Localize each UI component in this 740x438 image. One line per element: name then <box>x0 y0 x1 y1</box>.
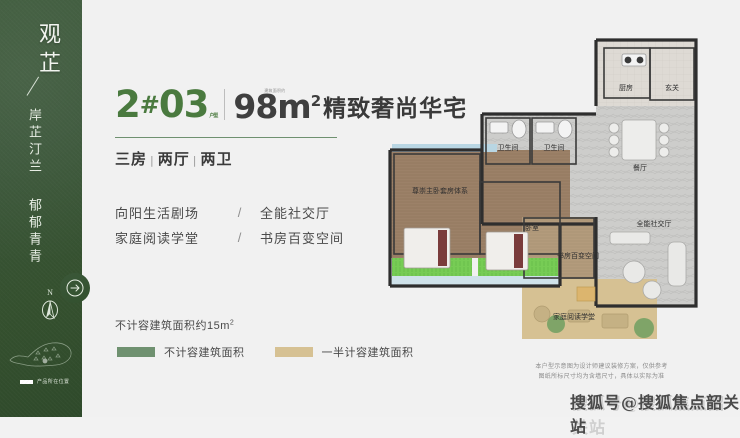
room-label-bathroom-1: 卫生间 <box>498 143 519 152</box>
feature-right: 全能社交厅 <box>260 203 330 222</box>
uncounted-area-text: 不计容建筑面积约15m <box>115 320 230 332</box>
compass-needle-icon <box>40 297 60 321</box>
compass-icon: N <box>36 288 64 324</box>
room-label-reading-hall: 家庭阅读学堂 <box>553 312 595 321</box>
title-underline <box>115 137 337 138</box>
uncounted-area-sup: 2 <box>230 319 234 326</box>
feature-list: 向阳生活剧场 / 全能社交厅 家庭阅读学堂 / 书房百变空间 <box>115 200 344 250</box>
legend-item-uncounted: 不计容建筑面积 <box>117 344 245 360</box>
legend-label-uncounted: 不计容建筑面积 <box>164 344 245 360</box>
site-map-legend-swatch <box>20 380 33 384</box>
page-root: 观芷 岸芷汀兰 郁郁青青 N 产品所在位置 <box>0 0 740 417</box>
uncounted-area-note: 不计容建筑面积约15m2 <box>115 317 234 333</box>
disclaimer-line-2: 图纸所标尺寸均为含墙尺寸，具体以实际为准 <box>489 372 714 382</box>
brand-name: 观芷 <box>17 22 63 80</box>
unit-tag: 户型 <box>209 114 217 119</box>
room-type-1: 两厅 <box>158 150 190 168</box>
area-note: 建筑面积约 <box>264 88 285 94</box>
legend-swatch-tan <box>275 347 313 357</box>
room-label-entry: 玄关 <box>665 83 679 92</box>
site-map-icon <box>8 338 74 372</box>
feature-row: 家庭阅读学堂 / 书房百变空间 <box>115 225 344 250</box>
room-type-sep-0: | <box>147 154 158 167</box>
room-label-bathroom-2: 卫生间 <box>544 143 565 152</box>
feature-right: 书房百变空间 <box>260 228 344 247</box>
area-value: 98m2 <box>233 91 320 122</box>
next-arrow-button[interactable] <box>60 273 90 303</box>
brand-sidebar: 观芷 岸芷汀兰 郁郁青青 N 产品所在位置 <box>0 0 82 417</box>
site-map-legend: 产品所在位置 <box>20 378 69 385</box>
compass-north-label: N <box>47 288 53 297</box>
unit-hash: # <box>140 91 159 119</box>
area-legend: 不计容建筑面积 一半计容建筑面积 <box>117 344 414 360</box>
floor-plan-drawing: 厨房 玄关 卫生间 卫生间 餐厅 尊崇主卧套房体系 卧室 书房百变空间 全能社交… <box>382 32 712 352</box>
site-map-legend-label: 产品所在位置 <box>37 378 69 385</box>
room-type-0: 三房 <box>115 150 147 168</box>
room-label-dining: 餐厅 <box>633 163 647 172</box>
room-type-summary: 三房|两厅|两卫 <box>115 148 232 169</box>
feature-slash: / <box>220 230 260 245</box>
disclaimer: 本户型示意图为设计师建议装修方案，仅供参考 图纸所标尺寸均为含墙尺寸，具体以实际… <box>489 362 714 382</box>
room-label-kitchen: 厨房 <box>619 83 633 92</box>
title-divider <box>224 89 225 120</box>
unit-number-value: 2 <box>115 83 140 126</box>
legend-swatch-green <box>117 347 155 357</box>
floor-plan[interactable]: 厨房 玄关 卫生间 卫生间 餐厅 尊崇主卧套房体系 卧室 书房百变空间 全能社交… <box>382 32 712 352</box>
feature-left: 家庭阅读学堂 <box>115 228 220 247</box>
feature-left: 向阳生活剧场 <box>115 203 220 222</box>
room-label-bedroom: 卧室 <box>525 223 539 232</box>
watermark: 搜狐号@搜狐焦点韶关站 <box>570 389 740 437</box>
room-label-master-suite: 尊崇主卧套房体系 <box>412 186 468 195</box>
room-label-study: 书房百变空间 <box>557 251 599 260</box>
feature-row: 向阳生活剧场 / 全能社交厅 <box>115 200 344 225</box>
area-superscript: 2 <box>311 92 320 110</box>
room-label-social-hall: 全能社交厅 <box>637 219 672 228</box>
disclaimer-line-1: 本户型示意图为设计师建议装修方案，仅供参考 <box>489 362 714 372</box>
unit-number: 2#03户型 <box>115 88 217 122</box>
unit-code: 03 <box>159 83 209 126</box>
brand-tagline-1: 岸芷汀兰 <box>24 108 43 176</box>
room-type-sep-1: | <box>190 154 201 167</box>
feature-slash: / <box>220 205 260 220</box>
room-type-2: 两卫 <box>200 150 232 168</box>
arrow-right-circle-icon <box>66 279 84 297</box>
brand-tagline-2: 郁郁青青 <box>24 198 43 266</box>
